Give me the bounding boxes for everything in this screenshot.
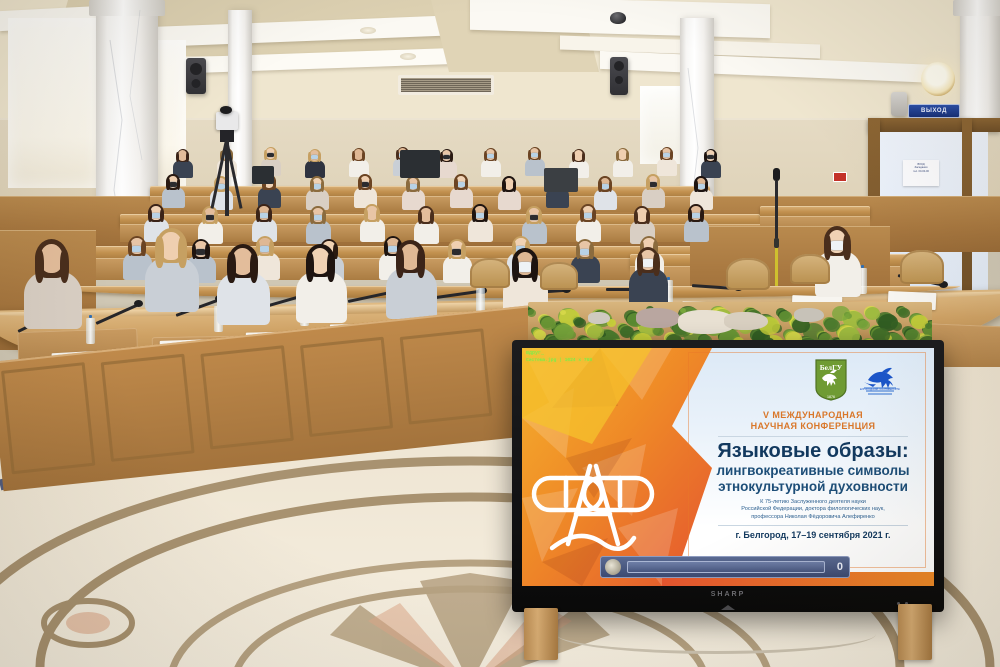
moss-clump <box>779 311 792 322</box>
person-hair-side <box>364 209 368 222</box>
moss-clump <box>528 309 536 317</box>
audience-member <box>474 206 504 245</box>
person-hair-side <box>538 211 542 224</box>
moss-clump <box>554 324 574 341</box>
person-hair-side <box>321 180 324 192</box>
person-hair-side <box>186 152 189 162</box>
chair-back <box>726 258 770 290</box>
tv-osd-line1: вдруг_ <box>526 350 544 356</box>
decorative-stone <box>636 308 680 328</box>
moss-clump <box>925 323 932 329</box>
person-hair-side <box>418 211 422 224</box>
door-frame <box>868 118 1000 132</box>
wall-speaker <box>186 58 206 94</box>
person-hair-side <box>454 178 457 190</box>
decorative-stone <box>794 308 824 322</box>
panelist-hair-side <box>227 252 235 283</box>
person-hair-side <box>502 180 505 192</box>
person-hair-side <box>582 152 585 162</box>
moss-clump <box>892 322 902 331</box>
audience-member <box>578 241 613 286</box>
sharp-television: БелГУ 1876 БЕЛГОРОДСКИЙ <box>512 340 944 612</box>
person-hair-side <box>384 241 389 256</box>
person-hair-side <box>472 209 476 222</box>
rear-monitor <box>400 150 440 178</box>
decorative-stone <box>724 312 768 330</box>
panelist-hair-side <box>512 256 519 282</box>
volume-track[interactable] <box>627 561 825 573</box>
panelist-8 <box>828 230 876 300</box>
speaker-icon <box>605 559 621 575</box>
panelist-hair-side <box>178 236 187 268</box>
person-torso <box>305 160 325 178</box>
person-hair-side <box>128 241 133 256</box>
person-hair-side <box>376 209 380 222</box>
tv-volume-bar[interactable]: 0 <box>600 556 850 578</box>
conference-hall-photo: ВЫХОД ВХОДЗаседаниятел. 00-00-00 <box>0 0 1000 667</box>
panelist-hair-side <box>60 249 69 283</box>
person-hair-side <box>484 209 488 222</box>
person-hair-side <box>274 150 277 160</box>
person-hair-side <box>526 211 530 224</box>
person-hair-side <box>670 150 673 160</box>
person-hair-side <box>358 178 361 190</box>
panelist-7 <box>640 250 681 310</box>
volume-value: 0 <box>837 561 843 573</box>
tv-stand-leg <box>898 604 932 660</box>
person-hair-side <box>714 152 717 162</box>
person-hair-side <box>598 180 601 192</box>
person-hair-side <box>166 178 169 190</box>
person-torso <box>450 187 472 208</box>
person-hair-side <box>688 209 692 222</box>
person-torso <box>437 160 457 178</box>
wall-speaker <box>891 92 907 116</box>
panelist-hair-side <box>35 249 44 283</box>
exit-sign-label: ВЫХОД <box>921 108 947 114</box>
person-hair-side <box>322 211 326 224</box>
person-hair-side <box>461 244 466 259</box>
panelist-torso <box>386 267 437 319</box>
moss-clump <box>898 308 910 318</box>
panelist-2 <box>160 232 217 315</box>
person-torso <box>360 218 386 242</box>
exit-sign: ВЫХОД <box>908 104 960 118</box>
panelist-hair-side <box>824 234 831 261</box>
person-hair-side <box>430 211 434 224</box>
person-hair-side <box>369 178 372 190</box>
tv-brand-label: SHARP <box>711 591 746 598</box>
moss-clump <box>825 319 840 332</box>
chair-back <box>470 258 510 288</box>
person-hair-side <box>626 151 629 161</box>
panelist-hair-side <box>155 236 164 268</box>
window-blind <box>8 18 100 188</box>
person-torso <box>525 158 545 176</box>
tv-osd-line2: Системa.jpg | 1024 x 768 <box>526 358 592 363</box>
person-hair-side <box>634 211 638 224</box>
person-torso <box>481 159 501 177</box>
tv-power-indicator <box>721 605 735 610</box>
audience-member <box>706 150 729 180</box>
person-hair-side <box>214 211 218 224</box>
panelist-torso <box>217 272 270 325</box>
person-hair-side <box>657 178 660 190</box>
person-hair-side <box>148 209 152 222</box>
moss-clump <box>653 327 664 336</box>
rear-monitor <box>544 168 578 192</box>
person-hair-side <box>202 211 206 224</box>
panelist-torso <box>24 271 82 330</box>
slide-left-artwork <box>522 348 712 586</box>
audience-member <box>420 208 450 247</box>
person-torso <box>576 218 602 242</box>
tv-cable <box>556 614 876 654</box>
person-hair-side <box>465 178 468 190</box>
person-hair-side <box>318 152 321 162</box>
audience-member <box>662 148 685 178</box>
person-torso <box>642 187 664 208</box>
panelist-hair-side <box>637 253 643 276</box>
panelist-3 <box>232 248 287 328</box>
person-hair-side <box>268 209 272 222</box>
person-torso <box>468 218 494 242</box>
moss-clump <box>541 317 556 330</box>
person-hair-side <box>417 180 420 192</box>
person-hair-side <box>609 180 612 192</box>
moss-clump <box>865 307 880 320</box>
person-hair-side <box>513 180 516 192</box>
person-hair-side <box>705 180 708 192</box>
presentation-slide: БелГУ 1876 БЕЛГОРОДСКИЙ <box>522 348 934 586</box>
person-hair-side <box>580 209 584 222</box>
ceiling-downlight <box>400 53 416 60</box>
person-hair-side <box>141 241 146 256</box>
panelist-1 <box>40 244 100 332</box>
fire-alarm-box <box>833 172 847 182</box>
audience-member <box>648 176 675 210</box>
panelist-torso <box>145 257 199 312</box>
person-hair-side <box>310 211 314 224</box>
person-torso <box>613 159 633 177</box>
person-torso <box>162 187 184 208</box>
panelist-hair-side <box>843 234 850 261</box>
panelist-hair-side <box>327 252 335 282</box>
person-hair-side <box>646 211 650 224</box>
door-notice: ВХОДЗаседаниятел. 00-00-00 <box>903 160 939 186</box>
person-hair-side <box>362 151 365 161</box>
person-hair-side <box>256 209 260 222</box>
panelist-hair-side <box>653 253 659 276</box>
ceiling-downlight <box>360 27 376 34</box>
marble-column <box>960 0 1000 120</box>
panelist-hair-side <box>417 248 425 278</box>
moss-clump <box>858 320 870 330</box>
moss-clump <box>620 326 634 338</box>
person-hair-side <box>494 151 497 161</box>
person-hair-side <box>694 180 697 192</box>
wall-lamp <box>921 62 955 96</box>
person-torso <box>701 160 721 178</box>
ceiling-dome-camera <box>610 12 626 24</box>
audience-member <box>618 149 641 179</box>
person-hair-side <box>700 209 704 222</box>
person-hair-side <box>450 152 453 162</box>
decorative-stone <box>588 312 610 324</box>
chair-back <box>540 262 578 290</box>
audience-member <box>504 178 531 212</box>
person-hair-side <box>160 209 164 222</box>
person-torso <box>684 218 710 242</box>
person-hair-side <box>646 178 649 190</box>
person-hair-side <box>406 180 409 192</box>
tv-screen[interactable]: БелГУ 1876 БЕЛГОРОДСКИЙ <box>522 348 934 586</box>
panelist-hair-side <box>306 252 314 282</box>
ventilation-grille <box>398 75 494 95</box>
audience-member <box>486 149 509 179</box>
chair-back <box>790 254 830 284</box>
person-hair-side <box>177 178 180 190</box>
panelist-hair-side <box>396 248 404 278</box>
panelist-hair-side <box>250 252 258 283</box>
person-hair-side <box>538 150 541 160</box>
person-hair-side <box>310 180 313 192</box>
panelist-torso <box>296 271 347 323</box>
tv-stand-leg <box>524 608 558 660</box>
person-hair-side <box>589 244 594 259</box>
microphone-head <box>134 300 143 307</box>
video-camera-on-tripod <box>206 112 250 212</box>
panelist-5 <box>400 244 453 322</box>
audience-member <box>690 206 720 245</box>
panelist-4 <box>310 248 363 326</box>
person-torso <box>657 158 677 176</box>
wall-speaker <box>610 57 628 95</box>
conference-monogram-logo <box>528 444 658 556</box>
rear-monitor <box>252 166 274 184</box>
chair-back <box>900 250 944 284</box>
person-hair-side <box>576 244 581 259</box>
panelist-hair-side <box>531 256 538 282</box>
person-hair-side <box>592 209 596 222</box>
